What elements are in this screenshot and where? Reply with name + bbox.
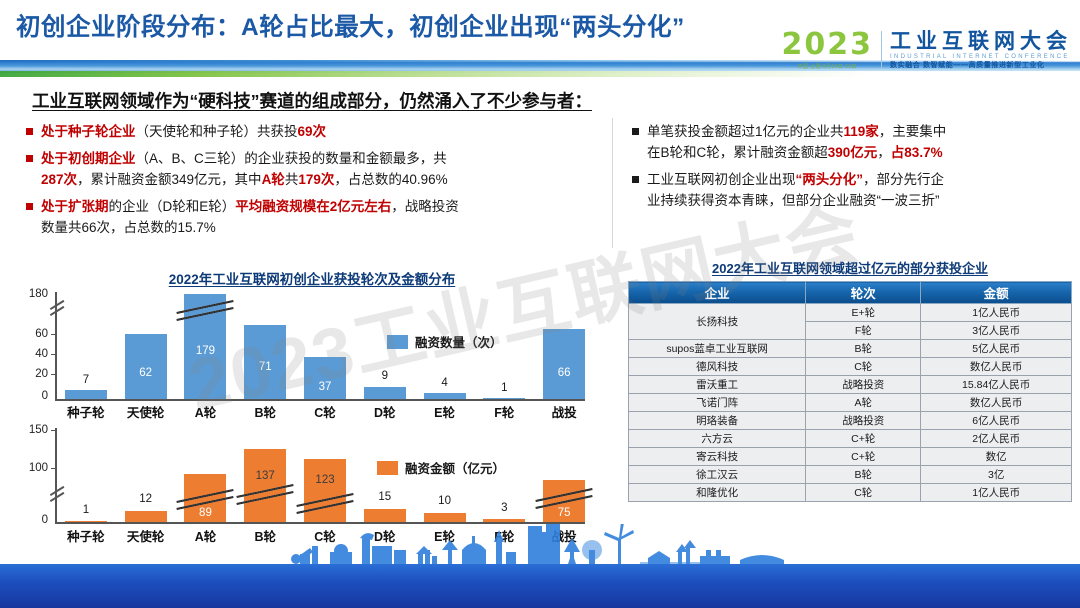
bar-a-round: 179 [184, 294, 226, 399]
plot-area-bottom: 1 12 89 137 [56, 426, 594, 522]
cell-company: 徐工汉云 [629, 466, 806, 484]
table-row: 长扬科技 E+轮 1亿人民币 [629, 304, 1072, 322]
bullet-square-icon [632, 176, 639, 183]
cell-round: B轮 [806, 466, 921, 484]
cell-round: C轮 [806, 484, 921, 502]
bar-b-round: 71 [244, 325, 286, 399]
bar-value: 1 [501, 382, 507, 394]
slide-header: 初创企业阶段分布：A轮占比最大，初创企业出现“两头分化” 2023 中国·合肥 … [0, 0, 1080, 82]
bar-break-icon [296, 499, 354, 512]
table-row: 六方云 C+轮 2亿人民币 [629, 430, 1072, 448]
bar-slot: 62 [116, 290, 176, 399]
cell-amount: 数亿人民币 [921, 394, 1072, 412]
x-label: E轮 [415, 402, 475, 422]
chart-funding-count: 180 60 40 20 0 7 62 [22, 290, 602, 422]
list-item: 处于初创期企业（A、B、C三轮）的企业获投的数量和金额最多，共 287次，累计融… [26, 149, 612, 191]
bullet-list-left: 处于种子轮企业（天使轮和种子轮）共获投69次 处于初创期企业（A、B、C三轮）的… [26, 122, 612, 245]
bar-slot: 7 [56, 290, 116, 399]
bar-value: 62 [125, 367, 167, 379]
cell-company: supos蓝卓工业互联网 [629, 340, 806, 358]
logo-year-block: 2023 中国·合肥 8月14日-16日 [782, 30, 882, 70]
cell-company: 六方云 [629, 430, 806, 448]
x-label: 种子轮 [56, 402, 116, 422]
table-row: 飞诺门阵 A轮 数亿人民币 [629, 394, 1072, 412]
logo-name-en: INDUSTRIAL INTERNET CONFERENCE [890, 54, 1072, 60]
bar-slot: 123 [295, 426, 355, 522]
table-area: 2022年工业互联网领域超过亿元的部分获投企业 企业 轮次 金额 长扬科技 E+… [628, 258, 1072, 502]
page-title: 初创企业阶段分布：A轮占比最大，初创企业出现“两头分化” [16, 8, 685, 43]
bar-value: 3 [501, 502, 507, 514]
cell-amount: 1亿人民币 [921, 484, 1072, 502]
cell-round: B轮 [806, 340, 921, 358]
bar-value: 66 [543, 367, 585, 379]
conference-logo: 2023 中国·合肥 8月14日-16日 工业互联网大会 INDUSTRIAL … [782, 30, 1073, 70]
cell-amount: 5亿人民币 [921, 340, 1072, 358]
bar-c-round: 37 [304, 357, 346, 399]
bullet-text: 处于扩张期的企业（D轮和E轮）平均融资规模在2亿元左右，战略投资 数量共66次，… [41, 197, 459, 239]
chart-title: 2022年工业互联网初创企业获投轮次及金额分布 [22, 268, 602, 288]
bullet-text: 单笔获投金额超过1亿元的企业共119家，主要集中 在B轮和C轮，累计融资金额超3… [647, 122, 946, 164]
cell-company: 飞诺门阵 [629, 394, 806, 412]
logo-name-cn: 工业互联网大会 [890, 31, 1072, 53]
bar-value: 9 [382, 370, 388, 382]
logo-text-block: 工业互联网大会 INDUSTRIAL INTERNET CONFERENCE 数… [890, 31, 1072, 70]
table-header-row: 企业 轮次 金额 [629, 282, 1072, 304]
bar-f-round: 1 [483, 398, 525, 400]
y-tick: 60 [35, 328, 48, 340]
list-item: 处于扩张期的企业（D轮和E轮）平均融资规模在2亿元左右，战略投资 数量共66次，… [26, 197, 612, 239]
cell-round: E+轮 [806, 304, 921, 322]
logo-year-subtext: 中国·合肥 8月14日-16日 [782, 63, 874, 70]
bar-slot: 89 [176, 426, 236, 522]
table-row: 寄云科技 C+轮 数亿 [629, 448, 1072, 466]
bar-f-amt: 3 [483, 519, 525, 522]
bar-value: 123 [304, 474, 346, 486]
table-row: 雷沃重工 战略投资 15.84亿人民币 [629, 376, 1072, 394]
cell-round: A轮 [806, 394, 921, 412]
list-item: 处于种子轮企业（天使轮和种子轮）共获投69次 [26, 122, 612, 143]
bar-strategic-amt: 75 [543, 480, 585, 522]
bar-value: 7 [83, 374, 89, 386]
x-axis-line-top [55, 399, 585, 401]
column-header-company: 企业 [629, 282, 806, 304]
charts-area: 2022年工业互联网初创企业获投轮次及金额分布 180 60 40 20 0 7 [22, 268, 602, 540]
cell-amount: 3亿 [921, 466, 1072, 484]
cell-amount: 数亿 [921, 448, 1072, 466]
bullet-text: 处于初创期企业（A、B、C三轮）的企业获投的数量和金额最多，共 287次，累计融… [41, 149, 448, 191]
legend-top: 融资数量（次） [387, 332, 503, 351]
y-tick: 150 [29, 424, 48, 436]
bar-group-bottom: 1 12 89 137 [56, 426, 594, 522]
bar-value: 75 [543, 507, 585, 519]
bar-value: 10 [438, 495, 451, 507]
cell-amount: 15.84亿人民币 [921, 376, 1072, 394]
y-tick: 100 [29, 462, 48, 474]
cell-company: 明珞装备 [629, 412, 806, 430]
legend-swatch-blue [387, 335, 408, 349]
x-label: C轮 [295, 402, 355, 422]
bar-slot: 37 [295, 290, 355, 399]
column-divider [612, 118, 613, 248]
bar-slot: 75 [534, 426, 594, 522]
bar-slot: 71 [235, 290, 295, 399]
cell-company: 雷沃重工 [629, 376, 806, 394]
bar-break-icon [236, 490, 294, 503]
y-tick: 0 [42, 390, 48, 402]
bar-break-icon [535, 494, 593, 507]
cell-amount: 3亿人民币 [921, 322, 1072, 340]
bar-value: 12 [139, 493, 152, 505]
bar-value: 4 [441, 377, 447, 389]
table-row: 明珞装备 战略投资 6亿人民币 [629, 412, 1072, 430]
cell-company: 和隆优化 [629, 484, 806, 502]
x-label: F轮 [474, 402, 534, 422]
bar-seed: 7 [65, 390, 107, 399]
y-tick: 180 [29, 288, 48, 300]
bar-value: 1 [83, 504, 89, 516]
x-label: D轮 [355, 402, 415, 422]
bar-slot: 179 [176, 290, 236, 399]
bullet-square-icon [26, 203, 33, 210]
y-axis-labels-top: 180 60 40 20 0 [22, 290, 52, 422]
list-item: 工业互联网初创企业出现“两头分化”，部分先行企 业持续获得资本青睐，但部分企业融… [632, 170, 1072, 212]
bullet-text: 处于种子轮企业（天使轮和种子轮）共获投69次 [41, 122, 326, 143]
cell-company: 寄云科技 [629, 448, 806, 466]
bar-seed-amt: 1 [65, 521, 107, 523]
table-title: 2022年工业互联网领域超过亿元的部分获投企业 [628, 258, 1072, 277]
bar-slot: 12 [116, 426, 176, 522]
x-label: 天使轮 [116, 402, 176, 422]
bar-value: 37 [304, 381, 346, 393]
legend-label: 融资金额（亿元） [405, 458, 505, 477]
bullet-square-icon [26, 155, 33, 162]
header-gradient-rule-green [0, 71, 1080, 77]
bar-c-amt: 123 [304, 459, 346, 522]
table-row: 和隆优化 C轮 1亿人民币 [629, 484, 1072, 502]
column-header-amount: 金额 [921, 282, 1072, 304]
legend-bottom: 融资金额（亿元） [377, 458, 505, 477]
bar-slot: 1 [56, 426, 116, 522]
bar-strategic: 66 [543, 329, 585, 399]
bar-d-amt: 15 [364, 509, 406, 522]
bar-break-icon [176, 306, 234, 319]
bar-e-amt: 10 [424, 513, 466, 522]
bar-slot: 66 [534, 290, 594, 399]
cell-amount: 数亿人民币 [921, 358, 1072, 376]
logo-year: 2023 [782, 30, 874, 60]
x-axis-labels-top: 种子轮 天使轮 A轮 B轮 C轮 D轮 E轮 F轮 战投 [56, 402, 594, 422]
cell-amount: 2亿人民币 [921, 430, 1072, 448]
bar-group-top: 7 62 179 71 [56, 290, 594, 399]
cell-round: C+轮 [806, 430, 921, 448]
table-row: supos蓝卓工业互联网 B轮 5亿人民币 [629, 340, 1072, 358]
cell-round: C轮 [806, 358, 921, 376]
bar-slot: 137 [235, 426, 295, 522]
cell-company: 德风科技 [629, 358, 806, 376]
bullet-text: 工业互联网初创企业出现“两头分化”，部分先行企 业持续获得资本青睐，但部分企业融… [647, 170, 944, 212]
list-item: 单笔获投金额超过1亿元的企业共119家，主要集中 在B轮和C轮，累计融资金额超3… [632, 122, 1072, 164]
bottom-wave-decor [0, 564, 1080, 608]
x-label: B轮 [235, 402, 295, 422]
bullet-square-icon [632, 128, 639, 135]
cell-amount: 1亿人民币 [921, 304, 1072, 322]
bar-value: 179 [184, 345, 226, 357]
legend-swatch-orange [377, 461, 398, 475]
plot-area-top: 7 62 179 71 [56, 290, 594, 399]
bar-angel: 62 [125, 334, 167, 399]
cell-round: 战略投资 [806, 412, 921, 430]
bar-e-round: 4 [424, 393, 466, 399]
table-row: 德风科技 C轮 数亿人民币 [629, 358, 1072, 376]
bar-value: 71 [244, 361, 286, 373]
section-subtitle: 工业互联网领域作为“硬科技”赛道的组成部分，仍然涌入了不少参与者： [32, 88, 592, 113]
cell-amount: 6亿人民币 [921, 412, 1072, 430]
logo-divider [881, 31, 882, 69]
bar-value: 89 [184, 507, 226, 519]
x-label: A轮 [176, 402, 236, 422]
y-tick: 40 [35, 348, 48, 360]
bullet-square-icon [26, 128, 33, 135]
bullet-list-right: 单笔获投金额超过1亿元的企业共119家，主要集中 在B轮和C轮，累计融资金额超3… [632, 122, 1072, 218]
column-header-round: 轮次 [806, 282, 921, 304]
bar-angel-amt: 12 [125, 511, 167, 522]
cell-round: C+轮 [806, 448, 921, 466]
bar-value: 15 [378, 491, 391, 503]
bar-a-amt: 89 [184, 474, 226, 522]
cell-round: F轮 [806, 322, 921, 340]
cell-company: 长扬科技 [629, 304, 806, 340]
invest-table: 企业 轮次 金额 长扬科技 E+轮 1亿人民币 F轮 3亿人民币 supos蓝卓… [628, 281, 1072, 502]
table-row: 徐工汉云 B轮 3亿 [629, 466, 1072, 484]
bar-b-amt: 137 [244, 449, 286, 522]
logo-slogan: 数实融合 数智赋能——高质量推进新型工业化 [890, 62, 1072, 69]
x-label: 战投 [534, 402, 594, 422]
cell-round: 战略投资 [806, 376, 921, 394]
legend-label: 融资数量（次） [415, 332, 503, 351]
bar-d-round: 9 [364, 387, 406, 399]
bar-value: 137 [244, 470, 286, 482]
y-tick: 20 [35, 368, 48, 380]
